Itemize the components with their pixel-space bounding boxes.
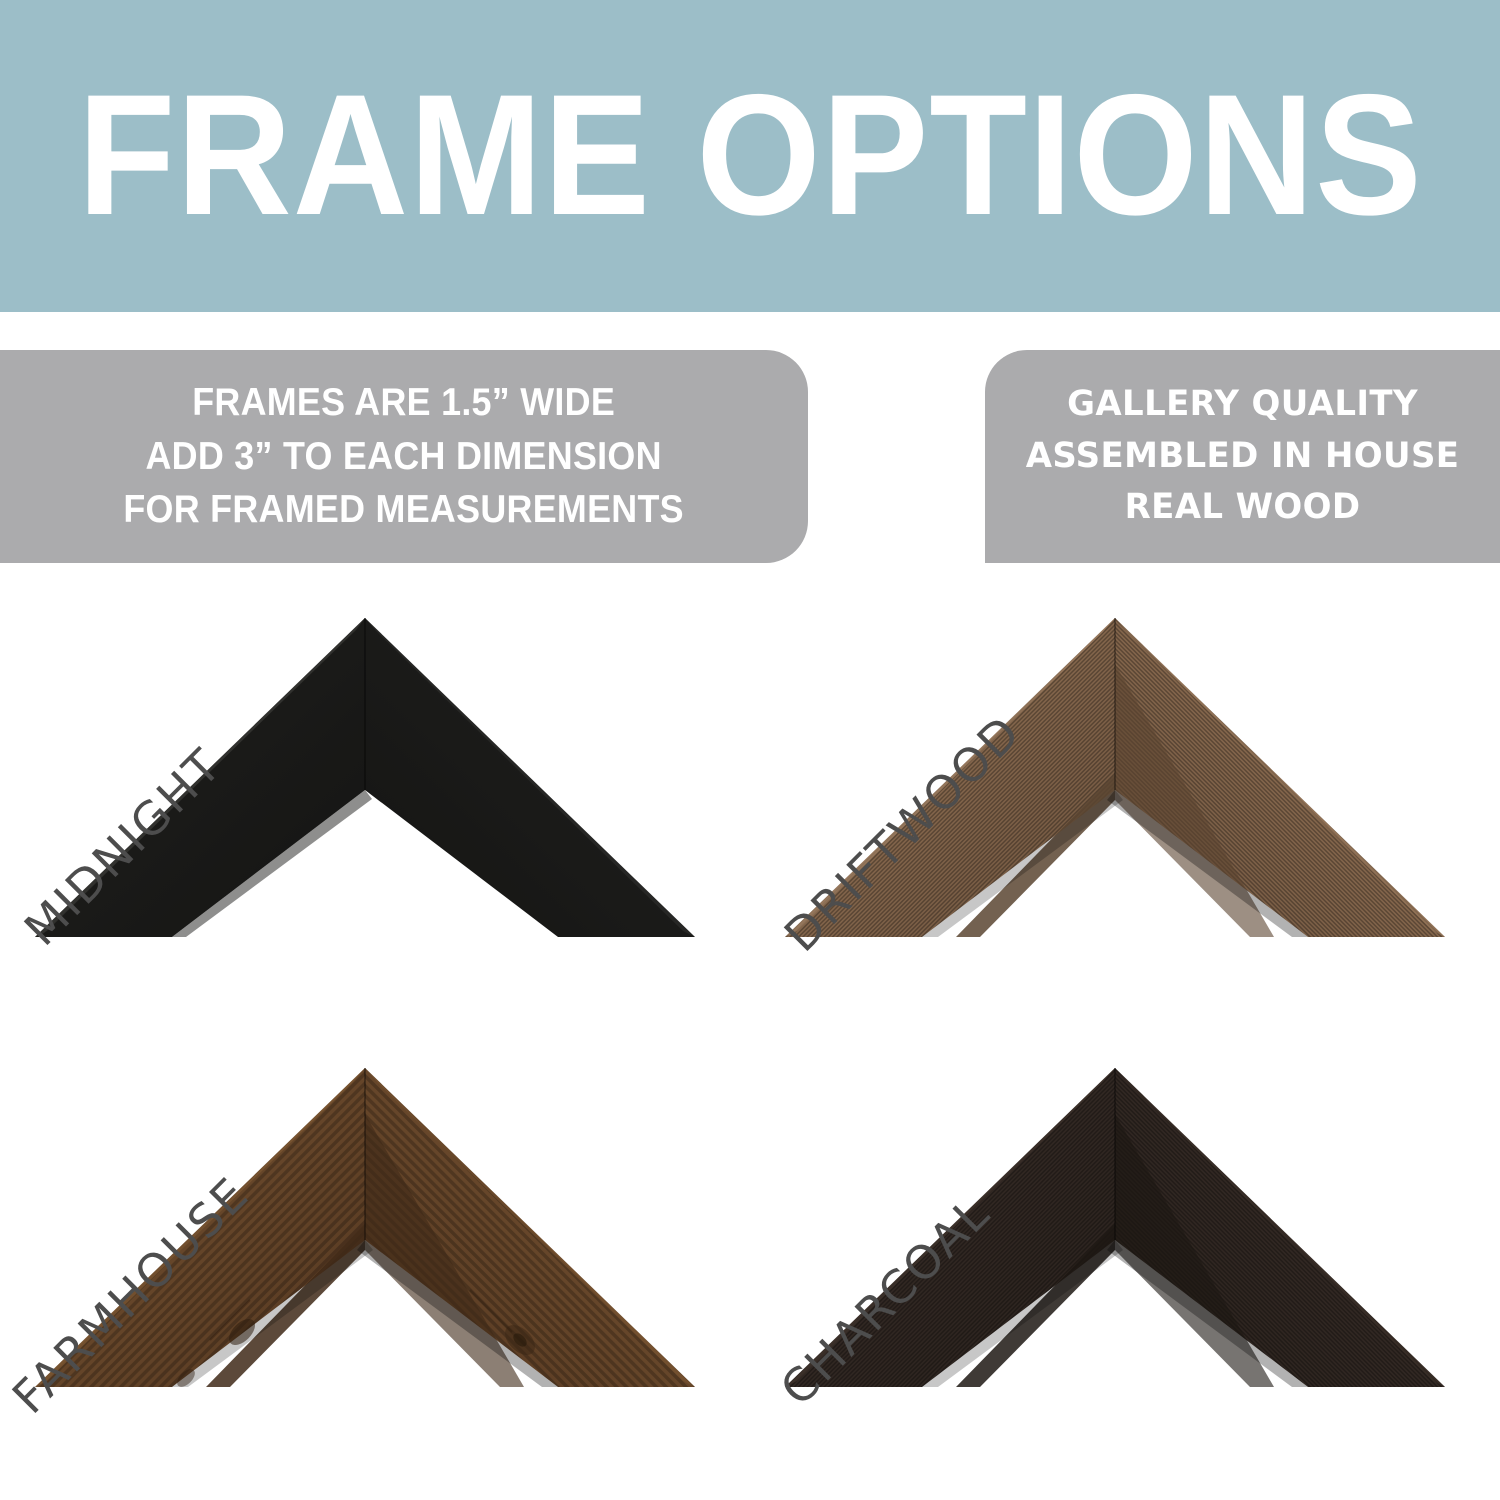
frame-swatch-grid: MIDNIGHT DRIFTWOOD FARMHOUSE CHARCOAL xyxy=(0,590,1500,1470)
frame-options-infographic: FRAME OPTIONS FRAMES ARE 1.5” WIDE ADD 3… xyxy=(0,0,1500,1500)
header-banner: FRAME OPTIONS xyxy=(0,0,1500,312)
frame-swatch-farmhouse[interactable]: FARMHOUSE xyxy=(0,1040,750,1480)
info-line: ASSEMBLED IN HOUSE xyxy=(1026,431,1460,483)
info-line: FRAMES ARE 1.5” WIDE xyxy=(124,376,684,430)
frame-swatch-midnight[interactable]: MIDNIGHT xyxy=(0,590,750,1030)
info-line: FOR FRAMED MEASUREMENTS xyxy=(124,483,684,537)
info-line: REAL WOOD xyxy=(1026,482,1460,534)
info-box-quality-text: GALLERY QUALITY ASSEMBLED IN HOUSE REAL … xyxy=(1019,379,1466,534)
frame-corner-icon xyxy=(0,590,750,990)
info-box-quality: GALLERY QUALITY ASSEMBLED IN HOUSE REAL … xyxy=(985,350,1500,563)
info-line: ADD 3” TO EACH DIMENSION xyxy=(124,430,684,484)
info-line: GALLERY QUALITY xyxy=(1026,379,1460,431)
frame-corner-icon xyxy=(750,590,1500,990)
frame-swatch-charcoal[interactable]: CHARCOAL xyxy=(750,1040,1500,1480)
frame-swatch-driftwood[interactable]: DRIFTWOOD xyxy=(750,590,1500,1030)
frame-corner-icon xyxy=(750,1040,1500,1440)
frame-corner-icon xyxy=(0,1040,750,1440)
info-box-measurements-text: FRAMES ARE 1.5” WIDE ADD 3” TO EACH DIME… xyxy=(99,376,708,537)
info-box-measurements: FRAMES ARE 1.5” WIDE ADD 3” TO EACH DIME… xyxy=(0,350,808,563)
page-title: FRAME OPTIONS xyxy=(77,74,1422,237)
